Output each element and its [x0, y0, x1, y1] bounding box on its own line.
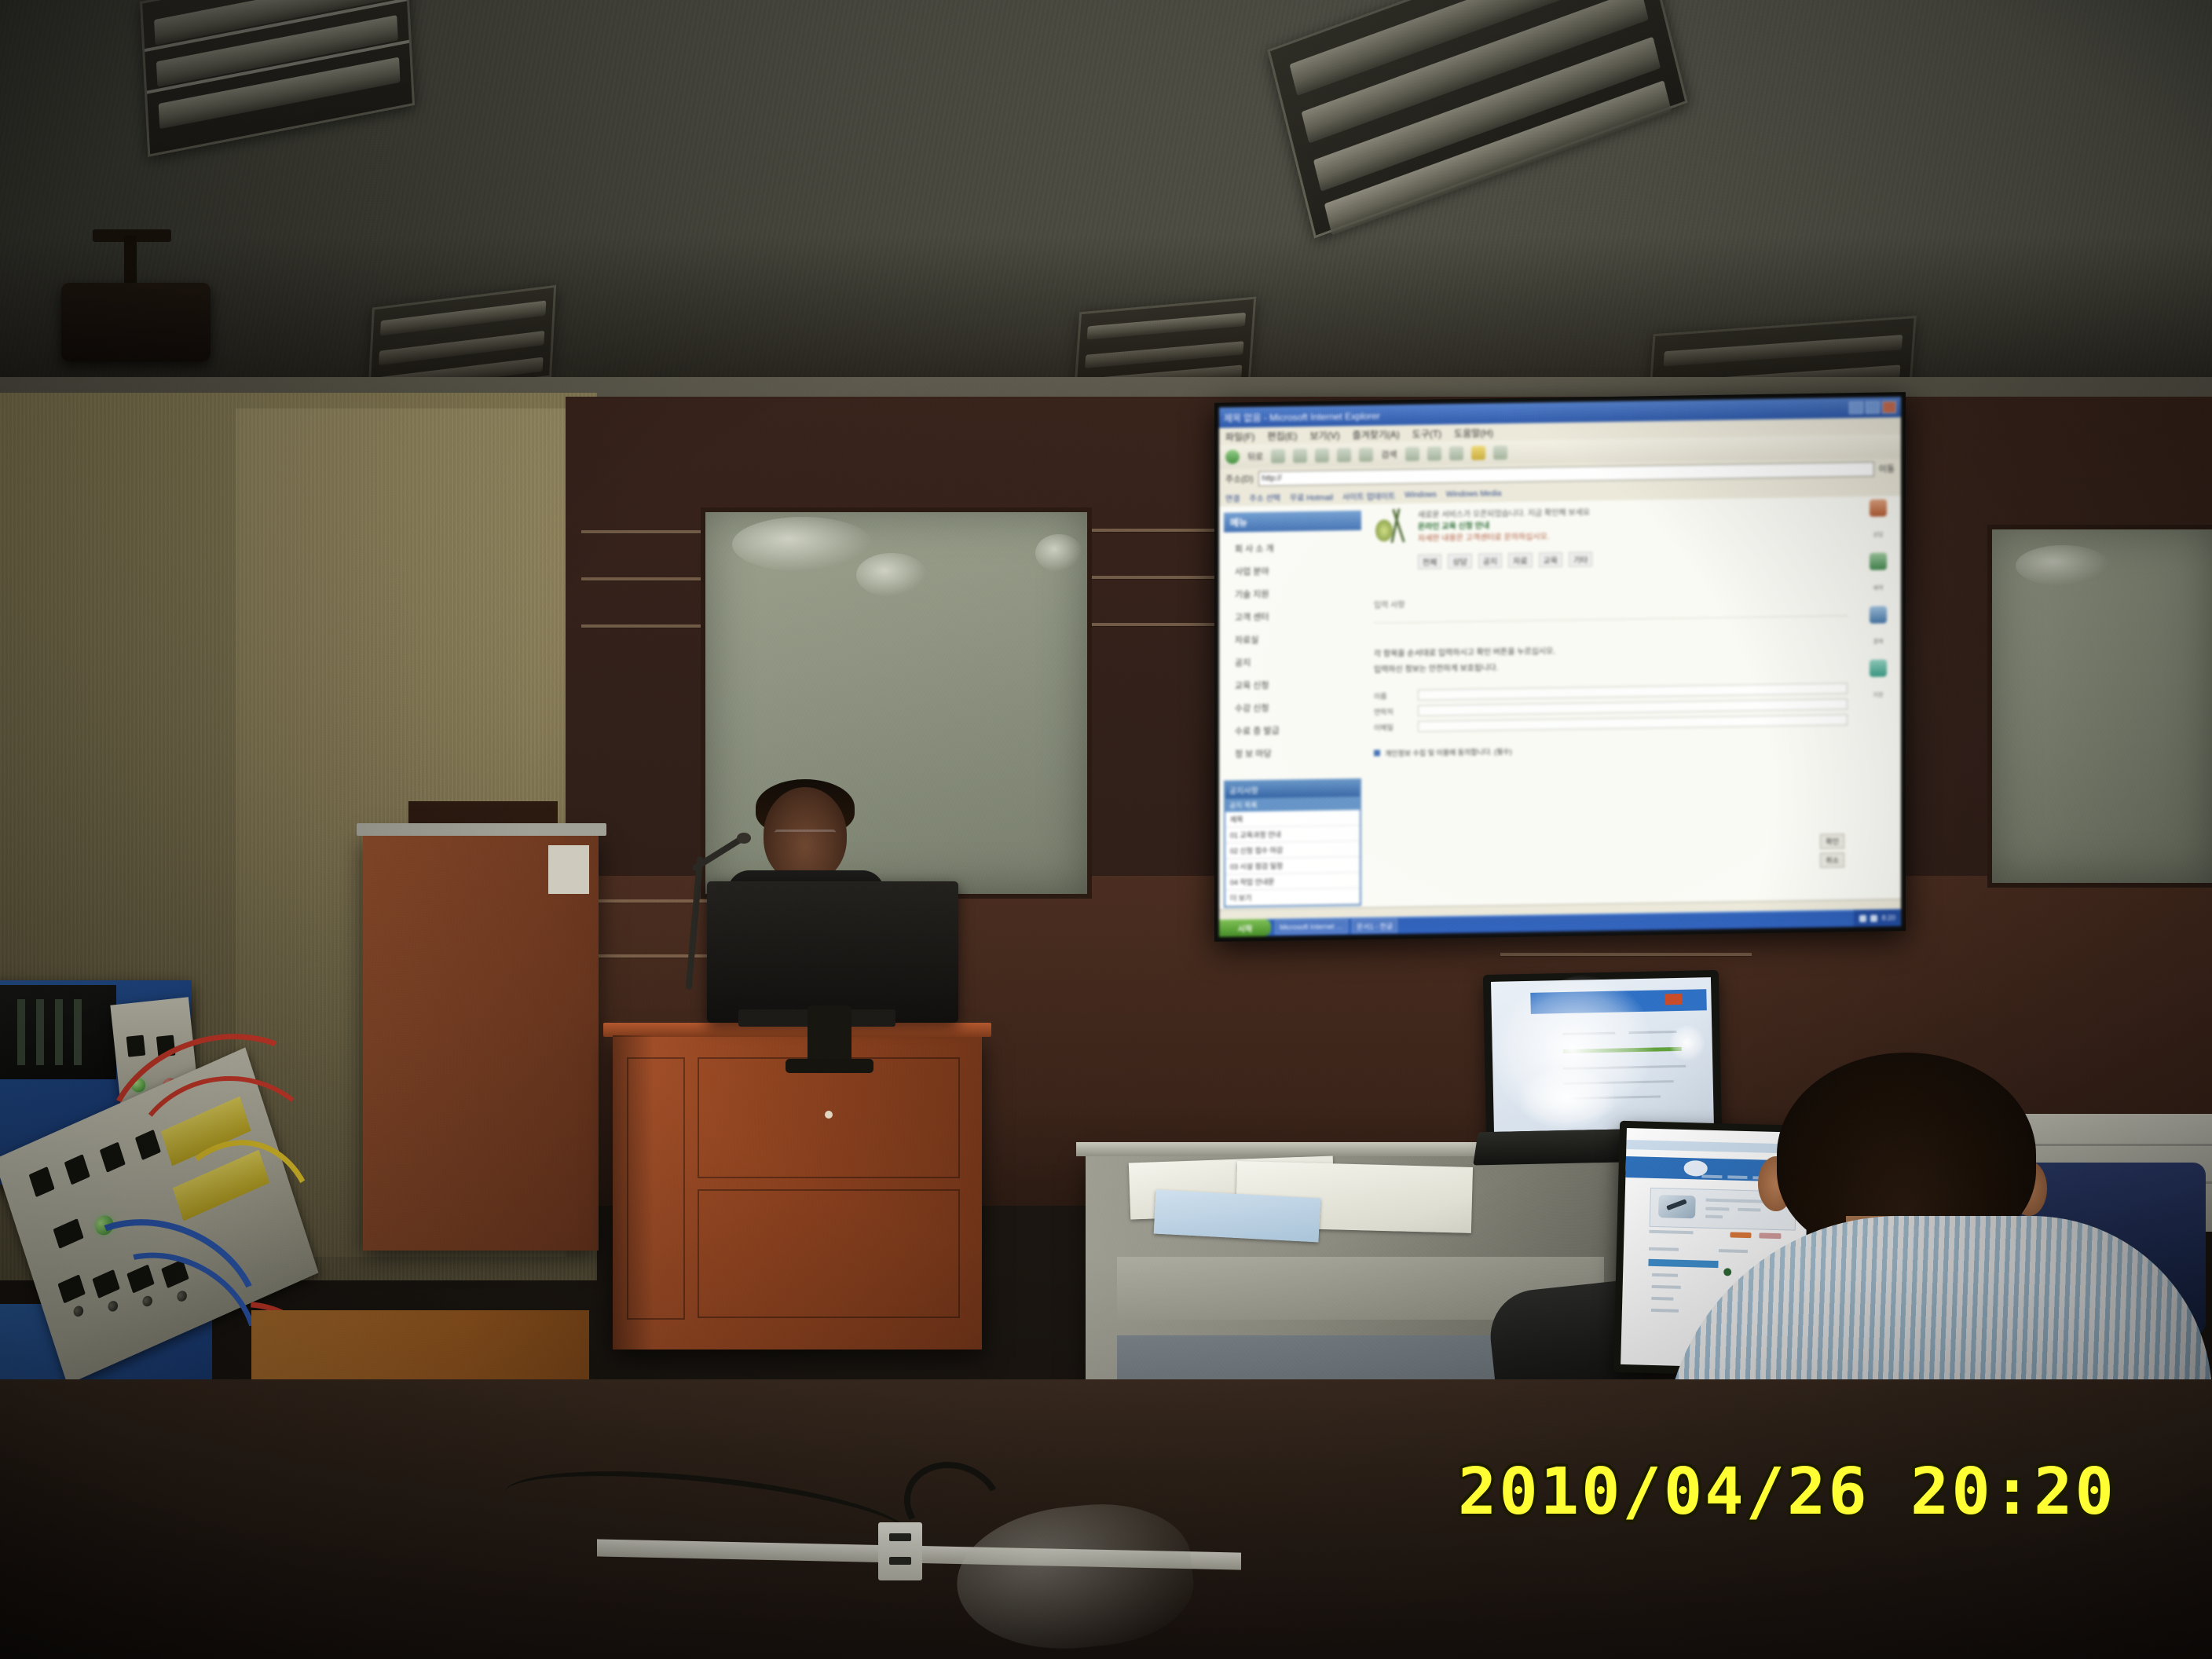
notice-more-link[interactable]: 더 보기 — [1225, 888, 1360, 906]
body-line-2: 입력하신 정보는 안전하게 보호됩니다. — [1374, 655, 1848, 674]
drawer-knob[interactable] — [825, 1111, 833, 1119]
projection-screen: 제목 없음 - Microsoft Internet Explorer 파일(F… — [1214, 392, 1906, 942]
tab-1[interactable]: 상담 — [1448, 554, 1471, 569]
form-row-0[interactable]: 이름 — [1374, 683, 1848, 701]
menu-view[interactable]: 보기(V) — [1309, 428, 1339, 442]
card-thumbnail — [1658, 1195, 1696, 1218]
notice-row-1[interactable]: 02 신청 접수 마감 — [1225, 841, 1360, 859]
notice-widget-title: 공지사항 — [1225, 780, 1360, 799]
desk-papers-3 — [1154, 1190, 1321, 1243]
back-label[interactable]: 뒤로 — [1247, 450, 1263, 463]
menu-edit[interactable]: 편집(E) — [1267, 429, 1297, 443]
link-item-3[interactable]: Windows — [1404, 490, 1437, 500]
mail-icon[interactable] — [1471, 446, 1485, 460]
sidebar-header: 메뉴 — [1224, 511, 1361, 533]
compass-icon — [1374, 508, 1410, 547]
page-body: 메뉴 회 사 소 개 사업 분야 기술 지원 고객 센터 자료실 공지 교육 신… — [1219, 496, 1901, 920]
sidebar-item-5[interactable]: 공지 — [1235, 654, 1361, 669]
input-form[interactable]: 이름 연락처 이메일 — [1374, 683, 1848, 732]
close-icon[interactable] — [1882, 401, 1896, 413]
floor-power-outlet — [878, 1522, 922, 1580]
lectern-taped-note — [548, 845, 589, 894]
tray-network-icon[interactable] — [1870, 914, 1877, 921]
email-input[interactable] — [1418, 714, 1848, 732]
confirm-button[interactable]: 확인 — [1820, 833, 1844, 848]
notice-row-3[interactable]: 04 작업 안내문 — [1225, 873, 1360, 891]
tab-3[interactable]: 자료 — [1508, 553, 1532, 568]
back-laptop-titlebar — [1531, 989, 1708, 1013]
maximize-icon[interactable] — [1866, 401, 1880, 414]
notice-row-2[interactable]: 03 시설 점검 일정 — [1225, 857, 1360, 875]
start-button[interactable]: 시작 — [1219, 919, 1271, 937]
start-label: 시작 — [1238, 922, 1252, 934]
back-laptop — [1483, 970, 1722, 1141]
monitor-stand-base — [786, 1059, 873, 1073]
sidebar-item-3[interactable]: 고객 센터 — [1235, 609, 1361, 624]
sidebar-menu: 회 사 소 개 사업 분야 기술 지원 고객 센터 자료실 공지 교육 신청 수… — [1224, 540, 1361, 760]
tray-clock: 8:20 — [1881, 914, 1895, 921]
field-label-name: 이름 — [1374, 690, 1412, 701]
quick-link-rail[interactable]: 상담 예약 결제 지원 — [1855, 496, 1901, 910]
history-icon[interactable] — [1449, 446, 1463, 460]
sidebar-item-8[interactable]: 수료 증 발급 — [1235, 723, 1361, 738]
rail-label-1: 예약 — [1873, 584, 1884, 592]
hero-text: 새로운 서비스가 오픈되었습니다. 지금 확인해 보세요 온라인 교육 신청 안… — [1418, 501, 1848, 569]
whiteboard-right — [1987, 525, 2212, 888]
tray-volume-icon[interactable] — [1859, 914, 1866, 921]
sidebar-item-6[interactable]: 교육 신청 — [1235, 677, 1361, 692]
back-laptop-screen — [1491, 977, 1714, 1132]
page-main: 새로운 서비스가 오픈되었습니다. 지금 확인해 보세요 온라인 교육 신청 안… — [1366, 496, 1855, 917]
form-row-2[interactable]: 이메일 — [1374, 714, 1848, 732]
microphone-head — [737, 833, 751, 844]
link-item-0[interactable]: 주소 선택 — [1249, 491, 1280, 504]
menu-file[interactable]: 파일(F) — [1225, 430, 1254, 444]
desk-drawer-right-lower[interactable] — [698, 1189, 960, 1318]
notice-row-0[interactable]: 01 교육과정 안내 — [1225, 826, 1360, 844]
projected-desktop: 제목 없음 - Microsoft Internet Explorer 파일(F… — [1219, 397, 1901, 937]
field-label-phone: 연락처 — [1374, 705, 1412, 716]
checkbox-icon[interactable] — [1374, 750, 1380, 756]
system-tray[interactable]: 8:20 — [1854, 909, 1901, 927]
tab-4[interactable]: 교육 — [1539, 552, 1562, 567]
taskbar-button-1[interactable]: 문서1 - 한글 — [1352, 918, 1397, 933]
home-icon[interactable] — [1337, 448, 1351, 462]
desk-drawer-left[interactable] — [627, 1057, 685, 1320]
link-item-1[interactable]: 무료 Hotmail — [1290, 490, 1333, 503]
search-icon[interactable] — [1359, 448, 1373, 462]
menu-help[interactable]: 도움말(H) — [1454, 426, 1493, 440]
favorites-icon[interactable] — [1405, 447, 1419, 461]
page-sidebar: 메뉴 회 사 소 개 사업 분야 기술 지원 고객 센터 자료실 공지 교육 신… — [1219, 504, 1366, 920]
sidebar-item-1[interactable]: 사업 분야 — [1235, 563, 1361, 578]
browser-title: 제목 없음 - Microsoft Internet Explorer — [1224, 408, 1380, 424]
hero-block: 새로운 서비스가 오픈되었습니다. 지금 확인해 보세요 온라인 교육 신청 안… — [1374, 501, 1848, 569]
lab-instrument-black — [0, 985, 116, 1079]
window-controls[interactable] — [1849, 401, 1896, 414]
form-buttons[interactable]: 확인 취소 — [1820, 833, 1844, 867]
section-note: 입력 사항 — [1374, 591, 1848, 610]
menu-tools[interactable]: 도구(T) — [1412, 427, 1441, 441]
lectern-backplate — [408, 801, 558, 823]
address-value: http:// — [1262, 474, 1282, 482]
media-icon[interactable] — [1427, 446, 1441, 460]
camera-timestamp: 2010/04/26 20:20 — [1458, 1455, 2116, 1529]
name-input[interactable] — [1418, 683, 1848, 701]
rail-icon-support[interactable] — [1870, 659, 1887, 676]
field-label-email: 이메일 — [1374, 721, 1412, 732]
whiteboard-left — [701, 507, 1092, 899]
search-label[interactable]: 검색 — [1381, 448, 1397, 460]
wooden-lectern — [363, 834, 599, 1251]
sidebar-item-0[interactable]: 회 사 소 개 — [1235, 540, 1361, 555]
notice-col-head: 제목 — [1225, 810, 1360, 828]
category-tabs[interactable]: 전체 상담 공지 자료 교육 기타 — [1418, 548, 1848, 569]
stop-icon[interactable] — [1293, 449, 1307, 463]
lectern-top-edge — [357, 823, 606, 836]
taskbar-button-0[interactable]: Microsoft Internet … — [1275, 919, 1348, 934]
link-item-2[interactable]: 사이트 업데이트 — [1342, 489, 1395, 502]
form-row-1[interactable]: 연락처 — [1374, 698, 1848, 716]
address-label: 주소(D) — [1225, 472, 1254, 485]
divider-1 — [1374, 615, 1848, 623]
rail-icon-consult[interactable] — [1870, 499, 1887, 516]
tab-5[interactable]: 기타 — [1569, 551, 1592, 566]
instructor-desk — [613, 1035, 982, 1350]
minimize-icon[interactable] — [1849, 401, 1863, 414]
go-button[interactable]: 이동 — [1879, 462, 1895, 474]
body-paragraphs: 각 항목을 순서대로 입력하시고 확인 버튼을 누르십시오. 입력하신 정보는 … — [1374, 639, 1848, 674]
sidebar-item-4[interactable]: 자료실 — [1235, 632, 1361, 646]
taskbar-button-1-label: 문서1 - 한글 — [1357, 921, 1393, 932]
rail-label-0: 상담 — [1873, 531, 1884, 539]
rail-icon-payment[interactable] — [1870, 606, 1887, 623]
tab-2[interactable]: 공지 — [1478, 553, 1502, 568]
cancel-button[interactable]: 취소 — [1820, 852, 1844, 867]
notice-widget: 공지사항 공지 목록 제목 01 교육과정 안내 02 신청 접수 마감 03 … — [1224, 778, 1361, 908]
link-item-4[interactable]: Windows Media — [1446, 489, 1502, 499]
instructor-monitor — [707, 881, 958, 1023]
sidebar-item-9[interactable]: 정 보 마당 — [1235, 745, 1361, 760]
print-icon[interactable] — [1493, 445, 1507, 460]
refresh-icon[interactable] — [1315, 449, 1329, 463]
instructor-glasses — [775, 829, 836, 842]
rail-icon-booking[interactable] — [1870, 552, 1887, 569]
taskbar-button-0-label: Microsoft Internet … — [1280, 922, 1343, 931]
consent-text: 개인정보 수집 및 이용에 동의합니다. (필수) — [1385, 746, 1512, 759]
links-label: 연결 — [1225, 492, 1240, 504]
classroom-photo: 제목 없음 - Microsoft Internet Explorer 파일(F… — [0, 0, 2212, 1659]
ceiling-projector — [61, 283, 211, 361]
rail-label-2: 결제 — [1873, 638, 1884, 646]
menu-favorites[interactable]: 즐겨찾기(A) — [1353, 427, 1400, 441]
consent-row[interactable]: 개인정보 수집 및 이용에 동의합니다. (필수) — [1374, 741, 1848, 758]
forward-icon[interactable] — [1271, 449, 1285, 463]
tab-0[interactable]: 전체 — [1418, 554, 1441, 569]
sidebar-item-2[interactable]: 기술 지원 — [1235, 586, 1361, 601]
sidebar-item-7[interactable]: 수강 신청 — [1235, 700, 1361, 715]
phone-input[interactable] — [1418, 698, 1848, 716]
rail-label-3: 지원 — [1873, 691, 1884, 699]
back-icon[interactable] — [1225, 449, 1240, 463]
